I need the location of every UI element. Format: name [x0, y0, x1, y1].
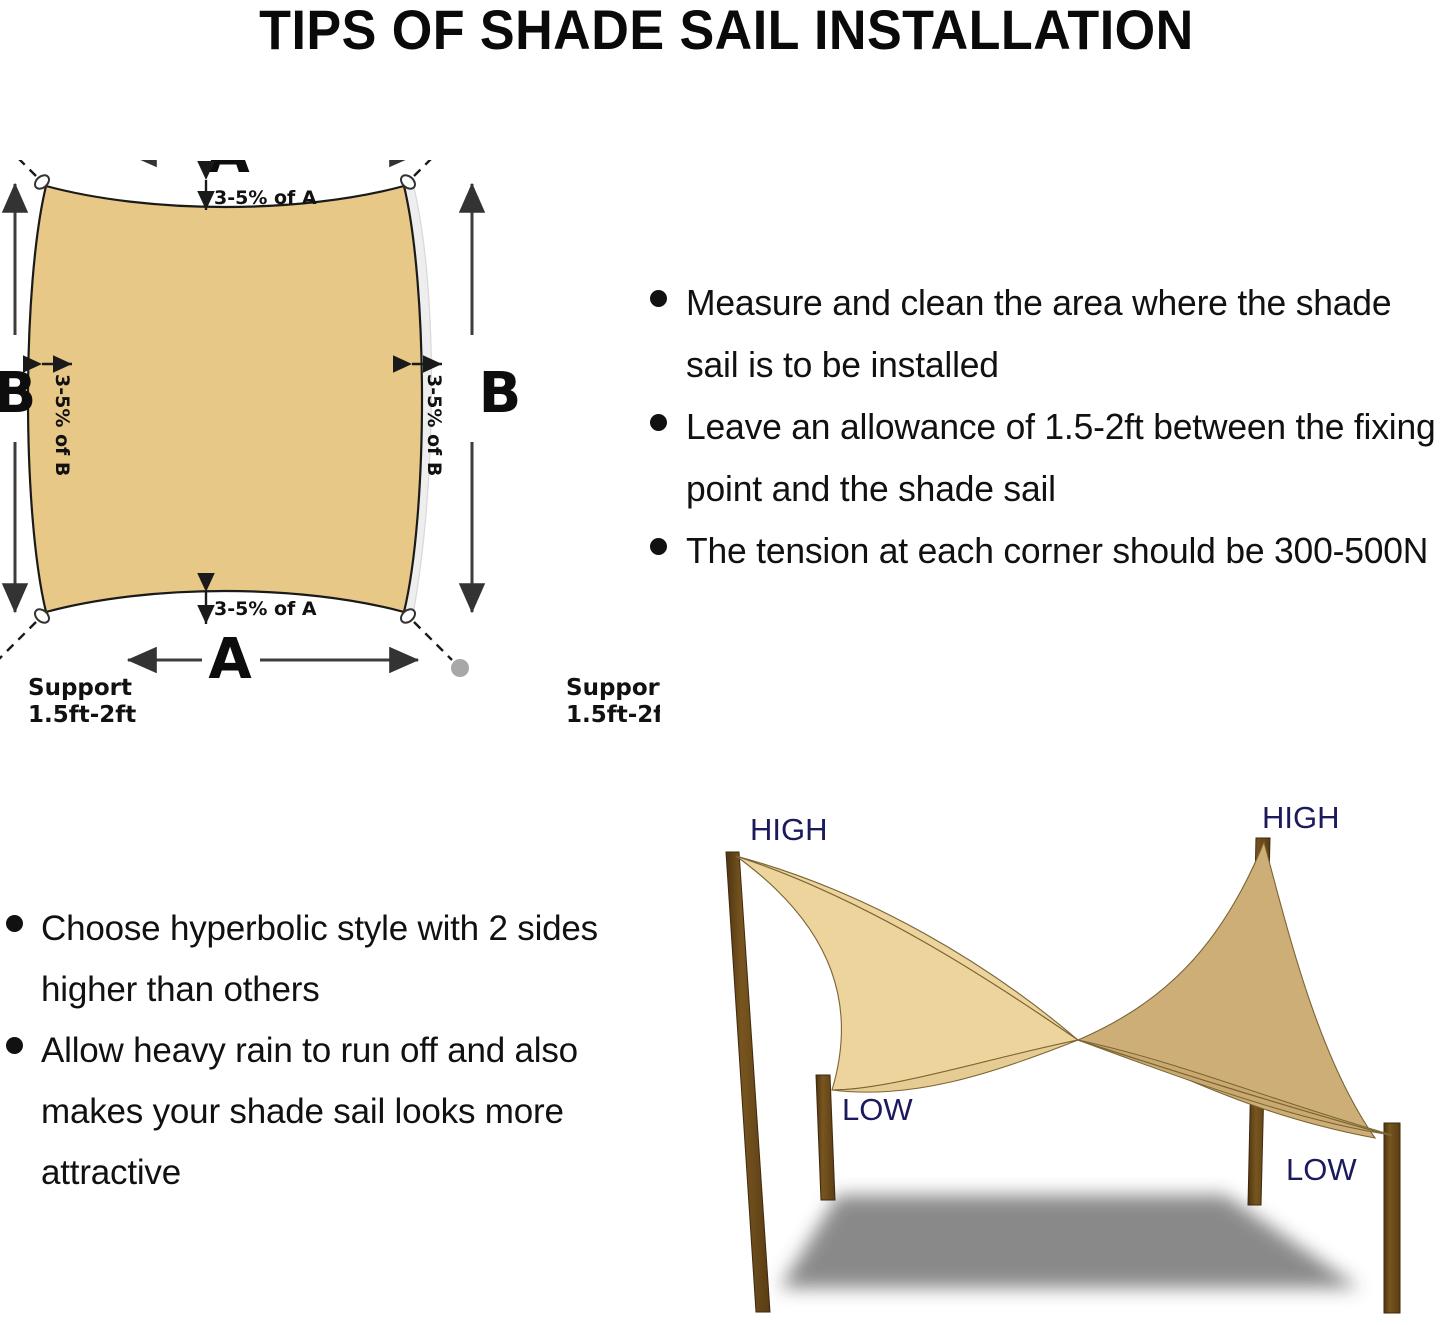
support-label-bottom-left: Support 1.5ft-2ft	[28, 675, 136, 728]
label-low-left: LOW	[842, 1092, 913, 1127]
label-high-left: HIGH	[750, 812, 828, 847]
sail-panel-rear	[1078, 842, 1375, 1138]
bullet-dot-icon	[650, 290, 667, 307]
support-label-bottom-right-line1: Support	[566, 675, 660, 701]
post-high-left	[726, 852, 770, 1312]
dimension-label-bottom-A: A	[208, 627, 252, 692]
support-label-bottom-right-line2: 1.5ft-2ft	[566, 702, 660, 728]
hyperbolic-style-tips-list: Choose hyperbolic style with 2 sides hig…	[6, 898, 626, 1203]
tether-bottom-right	[414, 622, 452, 660]
curve-note-label-bottom: 3-5% of A	[214, 598, 317, 620]
title-bar: TIPS OF SHADE SAIL INSTALLATION	[0, 0, 1452, 62]
dimension-label-left-B: B	[0, 361, 36, 426]
curve-note-label-right: 3-5% of B	[423, 374, 445, 476]
support-label-bottom-left-line2: 1.5ft-2ft	[28, 702, 136, 728]
list-item: Measure and clean the area where the sha…	[650, 272, 1452, 396]
dimension-label-top-A: A	[206, 160, 250, 186]
label-high-right: HIGH	[1262, 800, 1340, 835]
tip-text: Allow heavy rain to run off and also mak…	[41, 1020, 626, 1203]
tip-text: The tension at each corner should be 300…	[686, 520, 1441, 582]
tip-text: Measure and clean the area where the sha…	[686, 272, 1441, 396]
sail-dimension-diagram: A 3-5% of A A 3-5% of A B 3-5% of B B 3-…	[0, 160, 660, 740]
bullet-dot-icon	[6, 915, 23, 932]
support-dot-bottom-right	[451, 659, 469, 677]
dimension-top-A: A	[128, 160, 418, 186]
list-item: The tension at each corner should be 300…	[650, 520, 1452, 582]
dimension-right-B: B	[472, 184, 521, 612]
dimension-bottom-A: A	[128, 627, 418, 692]
ground-shadow	[780, 1195, 1360, 1288]
curve-note-bottom: 3-5% of A	[206, 592, 317, 624]
page-title: TIPS OF SHADE SAIL INSTALLATION	[259, 0, 1194, 60]
dimension-label-right-B: B	[479, 361, 522, 426]
label-low-right: LOW	[1286, 1152, 1357, 1187]
list-item: Allow heavy rain to run off and also mak…	[6, 1020, 626, 1203]
installation-tips-list: Measure and clean the area where the sha…	[650, 272, 1452, 582]
tip-text: Leave an allowance of 1.5-2ft between th…	[686, 396, 1441, 520]
shade-sail-body	[28, 186, 422, 612]
hyperbolic-sail-illustration: HIGH HIGH LOW LOW	[660, 790, 1452, 1325]
support-label-bottom-right: Support 1.5ft-2ft	[566, 675, 660, 728]
curve-note-label-top: 3-5% of A	[214, 187, 317, 209]
curve-note-label-left: 3-5% of B	[51, 374, 73, 476]
list-item: Leave an allowance of 1.5-2ft between th…	[650, 396, 1452, 520]
list-item: Choose hyperbolic style with 2 sides hig…	[6, 898, 626, 1020]
dimension-left-B: B	[0, 184, 36, 612]
tether-bottom-left	[0, 622, 36, 660]
tether-top-right	[414, 160, 452, 176]
support-label-bottom-left-line1: Support	[28, 675, 132, 701]
bullet-dot-icon	[650, 538, 667, 555]
tether-top-left	[0, 160, 36, 176]
bullet-dot-icon	[650, 414, 667, 431]
tip-text: Choose hyperbolic style with 2 sides hig…	[41, 898, 626, 1020]
post-low-right	[1384, 1123, 1400, 1313]
post-low-left	[816, 1075, 835, 1200]
bullet-dot-icon	[6, 1037, 23, 1054]
